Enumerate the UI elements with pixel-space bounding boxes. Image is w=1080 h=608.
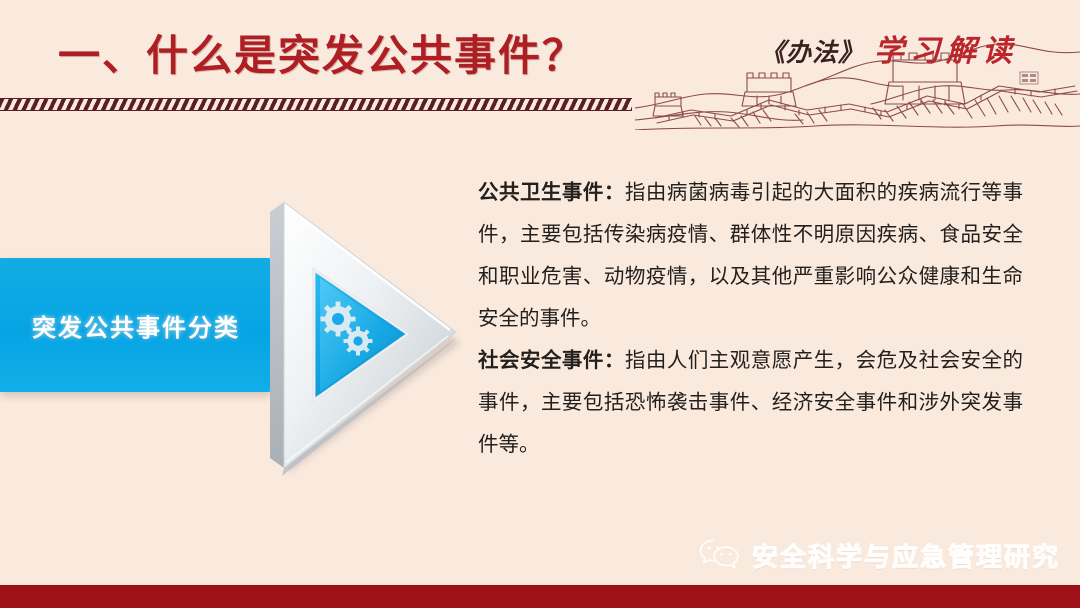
slide-root: 一、什么是突发公共事件？ [0,0,1080,608]
play-triangle-graphic [258,186,463,478]
paragraph-lead-label: 公共卫生事件： [478,181,625,204]
calligraphy-red-text: 学习解读 [874,35,1018,68]
wechat-icon [698,536,742,575]
paragraph-public-health: 公共卫生事件：指由病菌病毒引起的大面积的疾病流行等事件，主要包括传染病疫情、群体… [478,172,1023,340]
footer-bar [0,585,1080,608]
calligraphy-black-text: 《办法》 [760,40,864,67]
footer-watermark: 安全科学与应急管理研究 [698,536,1060,575]
page-title: 一、什么是突发公共事件？ [58,22,586,83]
calligraphy-subtitle: 《办法》学习解读 [760,26,1018,70]
category-banner[interactable]: 突发公共事件分类 [0,258,272,392]
category-banner-label: 突发公共事件分类 [0,308,272,343]
header-divider-stripes [0,98,632,111]
paragraph-lead-label: 社会安全事件： [478,349,625,372]
watermark-text: 安全科学与应急管理研究 [752,537,1060,574]
content-body: 公共卫生事件：指由病菌病毒引起的大面积的疾病流行等事件，主要包括传染病疫情、群体… [478,172,1023,466]
paragraph-social-security: 社会安全事件：指由人们主观意愿产生，会危及社会安全的事件，主要包括恐怖袭击事件、… [478,340,1023,466]
